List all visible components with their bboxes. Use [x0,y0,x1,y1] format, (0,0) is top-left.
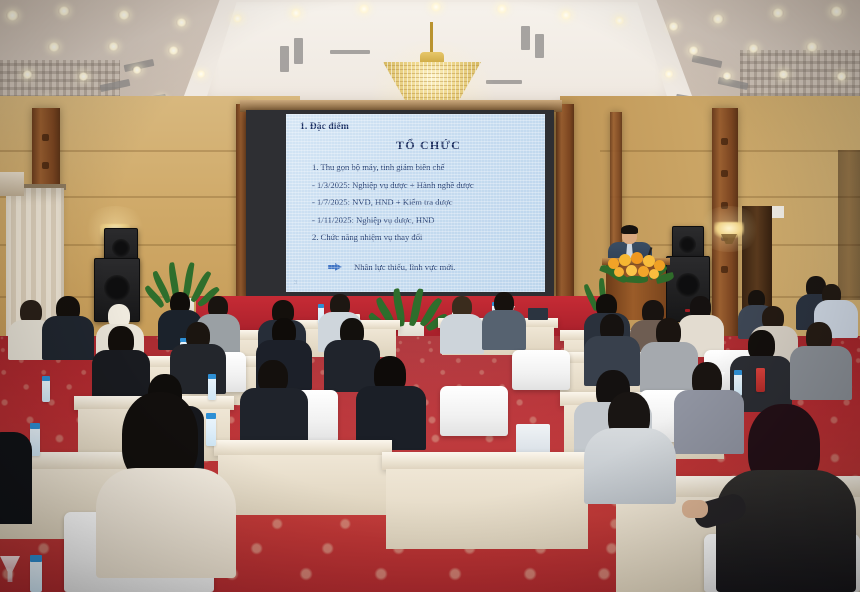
bottle-cap [42,376,50,381]
slide-line: - 1/3/2025: Nghiệp vụ dược + Hành nghề d… [312,180,535,190]
ceiling-downlight [48,42,60,52]
bottle-cap [734,370,742,375]
water-bottle [756,368,765,392]
ceiling-vent [280,46,289,72]
ceiling-downlight [176,18,187,27]
ceiling-downlight [712,14,724,24]
ceiling-downlight [560,10,572,20]
ceiling-downlight [772,8,784,18]
ceiling-downlight [830,6,843,17]
slide-highlight-row: Nhân lực thiếu, lĩnh vực mới. [328,262,455,272]
wall-pilaster-center-right [556,104,574,304]
ceiling-downlight [22,70,33,79]
ceiling-downlight [168,46,179,55]
ceiling-downlight [668,22,679,31]
ceiling-downlight [614,16,625,25]
ceiling-downlight [778,70,789,79]
conference-hall-photo: 1. Đặc điểm TỔ CHỨC 1. Thu gọn bộ máy, t… [0,0,860,592]
ceiling-downlight [748,44,759,53]
presenter-hair [621,225,638,234]
water-bottle [30,560,42,592]
banquet-chair[interactable] [440,386,508,436]
slide-line: - 1/11/2025: Nghiệp vụ dược, HND [312,215,535,225]
ceiling-downlight [132,66,142,74]
slide-kicker: 1. Đặc điểm [300,122,349,132]
slide-title: TỔ CHỨC [286,138,545,153]
delegate-table [382,452,592,470]
delegate-table [214,440,392,456]
arrow-right-icon [328,263,342,272]
door-sign [772,206,784,218]
ceiling-downlight [430,2,442,12]
ceiling-downlight [6,10,19,21]
ceiling-downlight [78,72,89,81]
column-capital [0,172,24,196]
ceiling-downlight [664,70,674,78]
bottle-cap [206,413,216,419]
delegate-table [386,469,588,549]
delegate-table [218,455,388,515]
slide-line: - 1/7/2025: NVD, HND + Kiểm tra dược [312,197,535,207]
slide-body: 1. Thu gọn bộ máy, tinh giảm biên chế - … [312,162,535,250]
ceiling-downlight [290,8,302,18]
bottle-cap [208,374,216,379]
water-bottle [42,380,50,402]
ceiling-vent [330,50,370,54]
banquet-chair[interactable] [512,350,570,390]
ceiling-vent [535,34,544,58]
attendee-hand [682,500,708,518]
bottle-cap [30,555,42,562]
wall-pilaster-podium [610,112,622,262]
ceiling-downlight [58,6,70,16]
water-bottle [208,378,216,400]
ceiling-downlight [722,72,732,80]
slide-line: 2. Chức năng nhiệm vụ thay đổi [312,232,535,242]
bottle-cap [30,423,40,429]
ceiling-downlight [806,42,818,52]
ceiling-downlight [232,14,243,23]
water-bottle [206,418,216,446]
ceiling-downlight [358,4,370,14]
flower-arrangement [600,248,672,282]
ceiling-vent [294,38,303,64]
ceiling-downlight [688,46,699,55]
projected-slide: 1. Đặc điểm TỔ CHỨC 1. Thu gọn bộ máy, t… [286,114,545,292]
ceiling-downlight [496,4,508,14]
bottle-cap [318,304,324,308]
chandelier-rod [430,22,433,56]
side-door[interactable] [838,150,860,300]
ceiling-downlight [118,10,130,20]
ceiling-downlight [196,70,206,78]
ceiling-downlight [836,72,847,81]
slide-highlight-text: Nhân lực thiếu, lĩnh vực mới. [354,262,455,272]
ceiling-vent [521,26,530,50]
ceiling-downlight [108,42,119,51]
laptop [528,308,548,320]
slide-page-number: 3 [294,280,297,286]
slide-line: 1. Thu gọn bộ máy, tinh giảm biên chế [312,162,535,172]
